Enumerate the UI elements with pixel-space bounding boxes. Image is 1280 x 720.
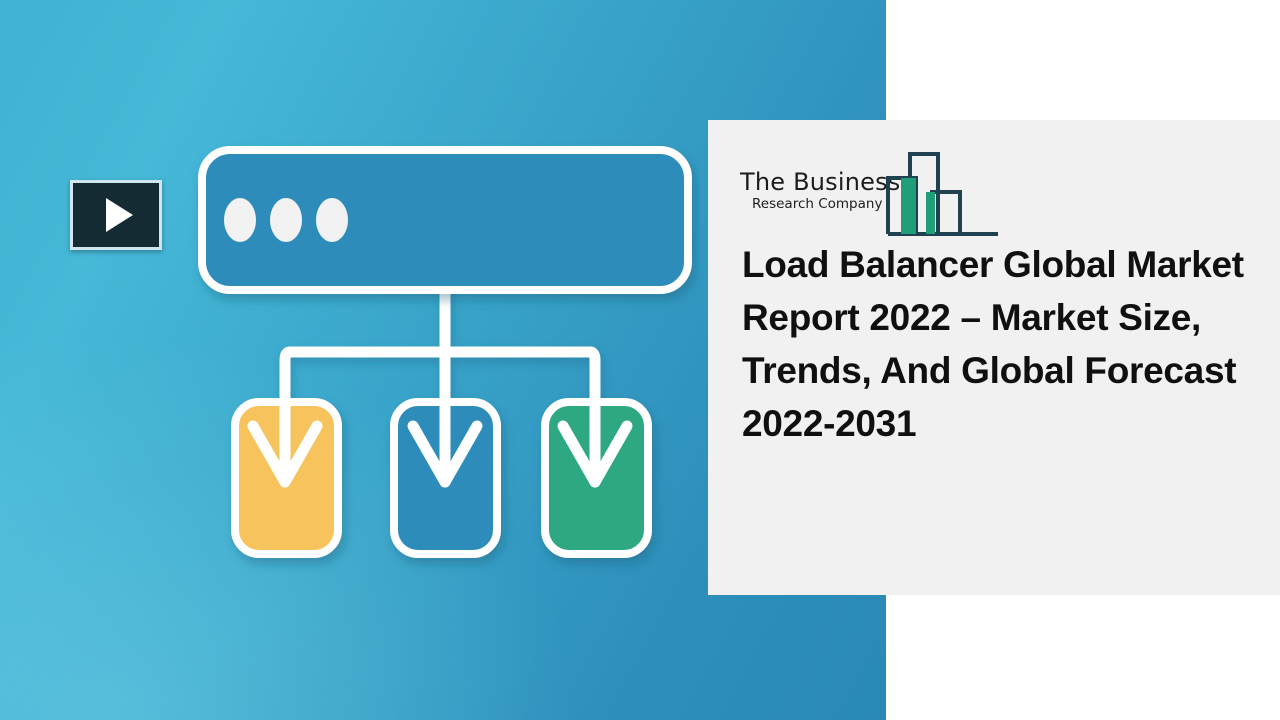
bar-chart-logo-mark <box>886 148 1016 240</box>
page-title: Load Balancer Global Market Report 2022 … <box>742 238 1264 450</box>
load-balancer-diagram <box>180 130 700 600</box>
logo-bar-filled-2 <box>926 192 935 234</box>
window-dot-3 <box>316 198 348 242</box>
content-card: The Business Research Company <box>708 120 1280 595</box>
logo-bar-filled-1 <box>901 178 916 234</box>
company-logo-text: The Business Research Company <box>740 170 900 212</box>
window-dot-1 <box>224 198 256 242</box>
play-button[interactable] <box>70 180 162 250</box>
slide-canvas: The Business Research Company <box>0 0 1280 720</box>
window-dot-2 <box>270 198 302 242</box>
diagram-top-node <box>202 150 688 290</box>
company-logo: The Business Research Company <box>740 148 1030 243</box>
company-logo-line1: The Business <box>740 170 900 194</box>
company-logo-line2: Research Company <box>740 196 900 212</box>
play-icon <box>106 198 133 232</box>
